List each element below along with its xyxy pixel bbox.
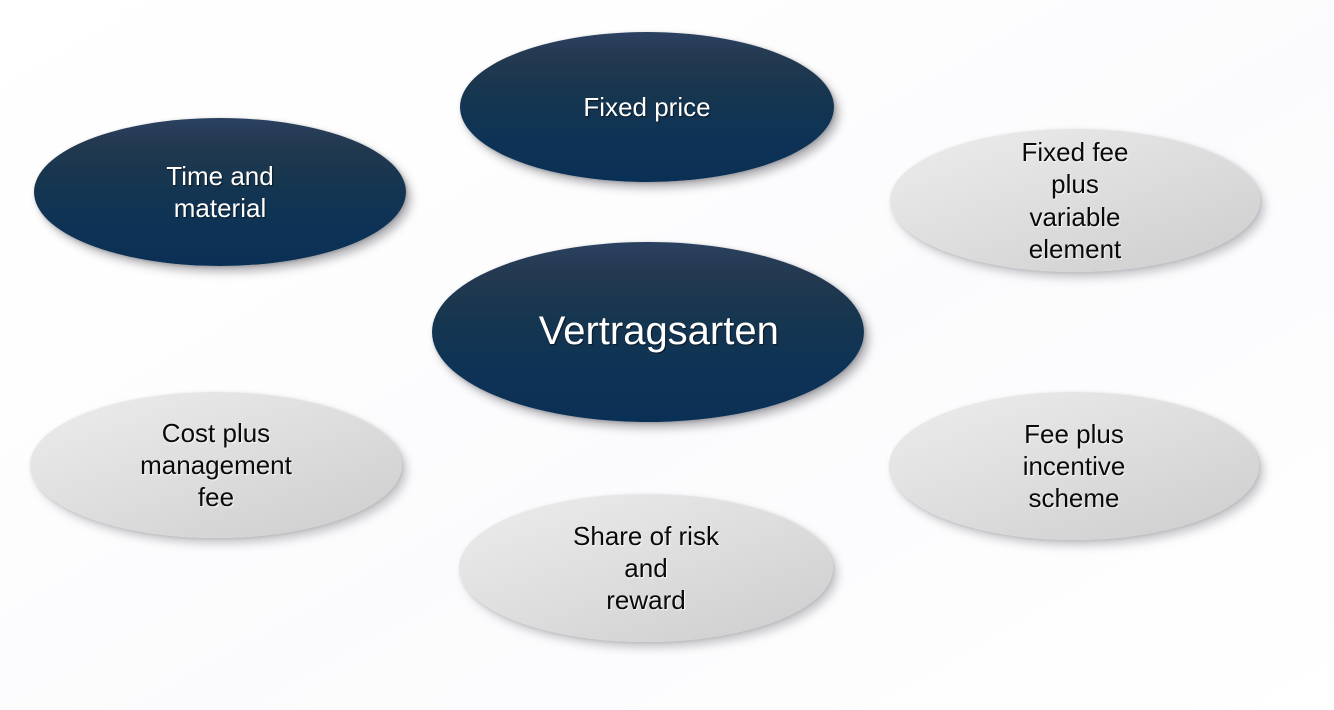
ellipse-center-vertragsarten[interactable]: Vertragsarten [432,242,864,422]
ellipse-fee-plus-incentive-scheme[interactable]: Fee plus incentive scheme [889,392,1259,540]
ellipse-share-of-risk-and-reward[interactable]: Share of risk and reward [459,494,833,642]
ellipse-label: Cost plus management fee [137,417,296,514]
ellipse-cost-plus-management-fee[interactable]: Cost plus management fee [30,392,402,538]
ellipse-label: Fee plus incentive scheme [996,418,1153,515]
ellipse-label: Share of risk and reward [566,520,727,617]
center-label: Vertragsarten [539,307,758,357]
ellipse-label: Fixed price [567,91,728,123]
ellipse-label: Time and material [141,160,300,224]
ellipse-label: Fixed fee plus variable element [997,136,1154,265]
ellipse-fixed-price[interactable]: Fixed price [460,32,834,182]
diagram-canvas: Time and material Fixed price Fixed fee … [0,0,1334,710]
ellipse-time-and-material[interactable]: Time and material [34,118,406,266]
ellipse-fixed-fee-plus-variable-element[interactable]: Fixed fee plus variable element [890,129,1260,272]
